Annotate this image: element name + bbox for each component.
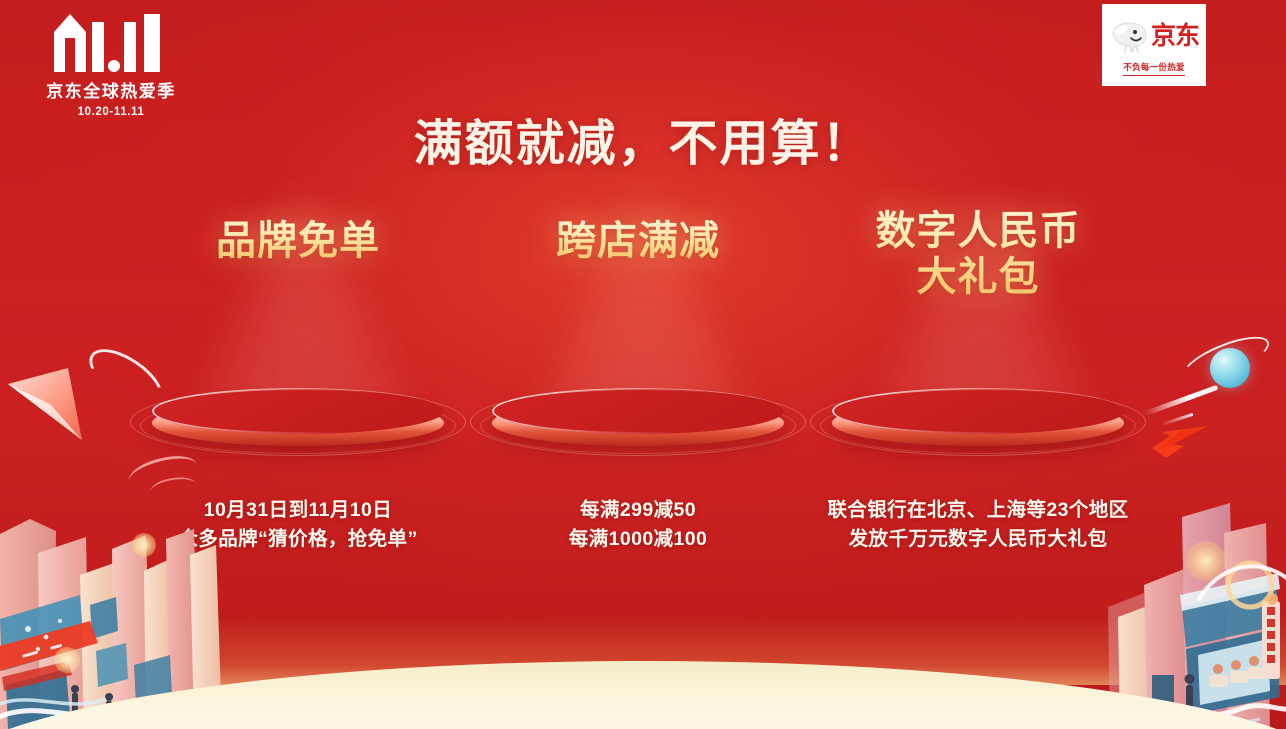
benefit-caption-line1: 联合银行在北京、上海等23个地区	[788, 496, 1168, 525]
benefit-caption-line2: 每满1000减100	[448, 525, 828, 554]
festival-name: 京东全球热爱季	[16, 77, 206, 102]
benefit-heading-line2: 大礼包	[808, 254, 1148, 300]
benefits-row: 品牌免单 10月31日到11月10日 众多品牌“猜价格，抢免单” 跨店满减 每满…	[0, 218, 1286, 608]
promo-banner: 京东全球热爱季 10.20-11.11 京东 不负每一份热爱 满额就减，不用算！…	[0, 0, 1286, 729]
benefit-heading: 品牌免单	[128, 218, 468, 264]
joy-dog-icon	[1109, 19, 1149, 53]
podium-platform-icon	[138, 384, 458, 460]
jd-logo-card[interactable]: 京东 不负每一份热爱	[1102, 4, 1206, 86]
benefit-column-digital-rmb-gift: 数字人民币 大礼包 联合银行在北京、上海等23个地区 发放千万元数字人民币大礼包	[808, 218, 1148, 608]
jd-wordmark: 京东	[1151, 24, 1199, 49]
benefit-heading: 数字人民币 大礼包	[808, 208, 1148, 301]
benefit-caption: 每满299减50 每满1000减100	[448, 496, 828, 554]
bokeh-dot-icon	[54, 647, 80, 673]
festival-dates: 10.20-11.11	[16, 106, 206, 118]
benefit-caption-line1: 每满299减50	[448, 496, 828, 525]
page-title: 满额就减，不用算！	[0, 104, 1286, 175]
benefit-caption-line2: 发放千万元数字人民币大礼包	[788, 525, 1168, 554]
benefit-heading-line1: 数字人民币	[808, 208, 1148, 254]
podium-platform-icon	[478, 384, 798, 460]
bottom-ivory-band	[0, 661, 1286, 729]
benefit-caption: 联合银行在北京、上海等23个地区 发放千万元数字人民币大礼包	[788, 496, 1168, 554]
jd-slogan: 不负每一份热爱	[1123, 61, 1185, 76]
eleven-eleven-mark-icon	[48, 12, 174, 74]
benefit-caption: 10月31日到11月10日 众多品牌“猜价格，抢免单”	[108, 496, 488, 554]
horizon-glow	[0, 615, 1286, 685]
benefit-caption-line2: 众多品牌“猜价格，抢免单”	[108, 525, 488, 554]
festival-logo: 京东全球热爱季 10.20-11.11	[16, 12, 206, 118]
benefit-column-brand-free-order: 品牌免单 10月31日到11月10日 众多品牌“猜价格，抢免单”	[128, 218, 468, 608]
podium-platform-icon	[818, 384, 1138, 460]
benefit-caption-line1: 10月31日到11月10日	[108, 496, 488, 525]
benefit-heading: 跨店满减	[468, 218, 808, 264]
benefit-column-cross-store-discount: 跨店满减 每满299减50 每满1000减100	[468, 218, 808, 608]
